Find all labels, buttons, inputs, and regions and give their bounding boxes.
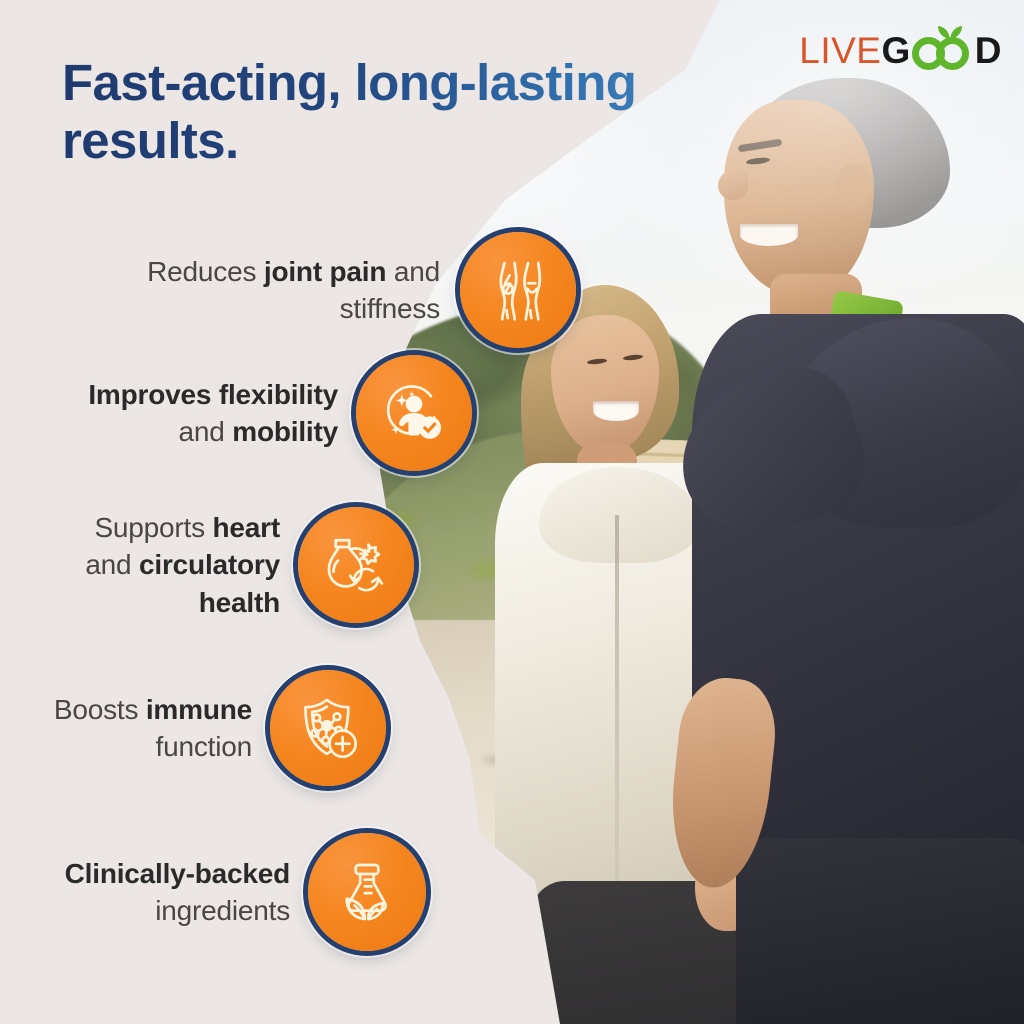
page-title: Fast-acting, long-lasting results.	[62, 54, 762, 170]
feature-row-joint-pain: Reduces joint pain and stiffness	[0, 232, 595, 348]
feature-label-joint-pain: Reduces joint pain and stiffness	[0, 253, 440, 327]
feature-line-1: Improves flexibility	[0, 376, 338, 413]
flexibility-glyph	[378, 377, 450, 449]
feature-text-bold: heart	[213, 512, 280, 543]
man-ear	[836, 164, 870, 210]
feature-line-3: health	[0, 584, 280, 621]
logo-live-text: LIVE	[799, 32, 881, 69]
headline-line-1: Fast-acting, long-lasting	[62, 54, 636, 111]
logo-letter-g: G	[881, 32, 910, 69]
livegood-logo[interactable]: LIVE G D	[799, 28, 1002, 72]
knee-joint-glyph	[482, 254, 554, 326]
knee-joint-pain-icon[interactable]	[460, 232, 576, 348]
feature-label-flexibility: Improves flexibility and mobility	[0, 376, 338, 450]
feature-label-ingredients: Clinically-backed ingredients	[0, 855, 290, 929]
feature-text-light-2: function	[156, 731, 252, 762]
feature-text-light: and	[179, 416, 233, 447]
woman-smile	[593, 401, 639, 421]
feature-text-bold: immune	[146, 694, 252, 725]
man-nose	[718, 170, 748, 200]
feature-text-light: Boosts	[54, 694, 146, 725]
feature-text-bold: Improves flexibility	[88, 379, 338, 410]
feature-row-immune: Boosts immune function	[0, 670, 402, 786]
shield-immune-glyph	[292, 692, 364, 764]
feature-text-light-3: stiffness	[340, 293, 440, 324]
headline-line-2: results.	[62, 112, 762, 170]
infographic-canvas: LIVE G D Fast-acting, long-lasting resul…	[0, 0, 1024, 1024]
feature-text-bold: Clinically-backed	[65, 858, 290, 889]
heart-circulation-icon[interactable]	[298, 507, 414, 623]
man-dark-pants	[736, 838, 1024, 1024]
feature-line-1: Boosts immune	[0, 691, 252, 728]
flask-leaves-glyph	[331, 856, 403, 928]
feature-label-immune: Boosts immune function	[0, 691, 252, 765]
logo-leaf-icon	[936, 24, 964, 40]
person-flexibility-check-icon[interactable]	[356, 355, 472, 471]
feature-text-light-2: and	[85, 549, 139, 580]
feature-line-2: and circulatory	[0, 546, 280, 583]
feature-text-bold-2: mobility	[232, 416, 338, 447]
logo-apple-circle-right	[936, 37, 969, 70]
feature-line-2: ingredients	[0, 892, 290, 929]
woman-jacket-zipper	[615, 515, 619, 895]
feature-line-2: stiffness	[0, 290, 440, 327]
feature-text-bold-2: circulatory	[139, 549, 280, 580]
feature-text-bold: joint pain	[264, 256, 386, 287]
feature-label-heart: Supports heart and circulatory health	[0, 509, 280, 621]
shield-immune-plus-icon[interactable]	[270, 670, 386, 786]
feature-text-light: Reduces	[147, 256, 264, 287]
man-figure	[684, 78, 1024, 1024]
feature-line-1: Supports heart	[0, 509, 280, 546]
feature-row-flexibility: Improves flexibility and mobility	[0, 355, 490, 471]
feature-line-1: Reduces joint pain and	[0, 253, 440, 290]
logo-letter-d: D	[975, 32, 1002, 69]
feature-text-light: ingredients	[155, 895, 290, 926]
feature-line-2: function	[0, 728, 252, 765]
heart-circulation-glyph	[320, 529, 392, 601]
man-smile	[740, 224, 798, 246]
feature-text-bold-3: health	[199, 587, 280, 618]
feature-line-2: and mobility	[0, 413, 338, 450]
feature-text-light: Supports	[94, 512, 212, 543]
logo-apple-icon	[912, 28, 974, 72]
feature-row-ingredients: Clinically-backed ingredients	[0, 833, 440, 951]
feature-line-1: Clinically-backed	[0, 855, 290, 892]
feature-text-light-2: and	[386, 256, 440, 287]
flask-leaves-ingredients-icon[interactable]	[308, 833, 426, 951]
feature-row-heart-circulation: Supports heart and circulatory health	[0, 507, 432, 623]
